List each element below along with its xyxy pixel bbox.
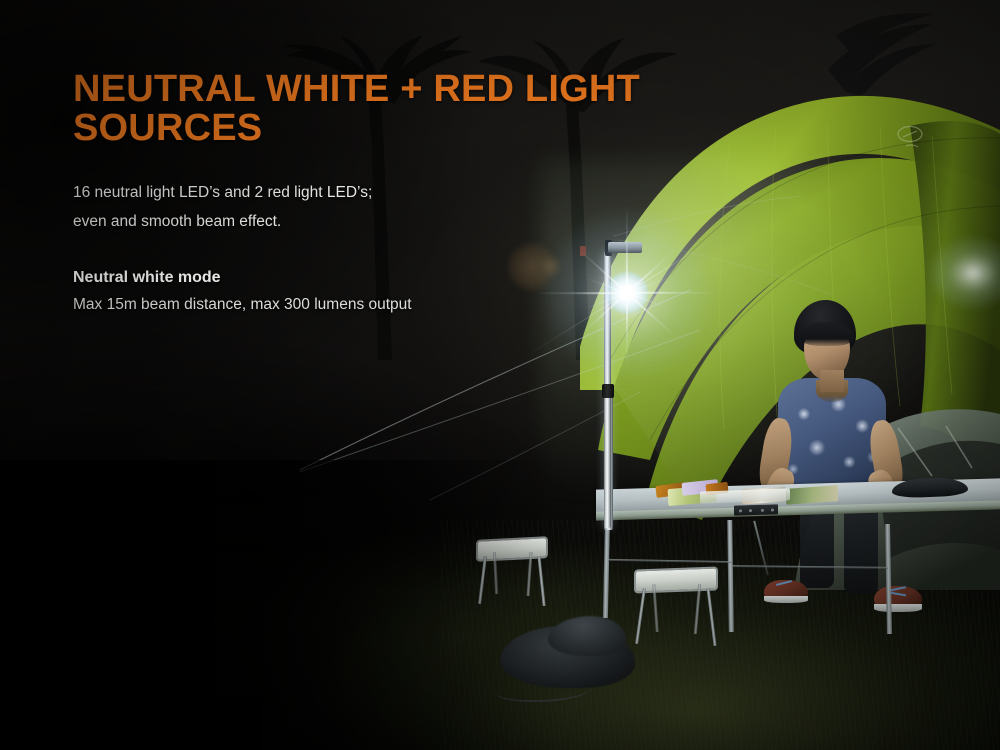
page-title: NEUTRAL WHITE + RED LIGHT SOURCES [73, 70, 693, 148]
copy-block: NEUTRAL WHITE + RED LIGHT SOURCES 16 neu… [73, 70, 693, 314]
table-hinge [734, 504, 778, 515]
slide-canvas: NEUTRAL WHITE + RED LIGHT SOURCES 16 neu… [0, 0, 1000, 750]
feature-line-1: 16 neutral light LED’s and 2 red light L… [73, 178, 693, 208]
feature-line-2: even and smooth beam effect. [73, 207, 693, 237]
feature-list: 16 neutral light LED’s and 2 red light L… [73, 178, 693, 238]
mode-description: Max 15m beam distance, max 300 lumens ou… [73, 296, 693, 314]
seated-person [760, 300, 960, 630]
mode-title: Neutral white mode [73, 269, 693, 287]
left-ground-shadow [0, 460, 560, 750]
